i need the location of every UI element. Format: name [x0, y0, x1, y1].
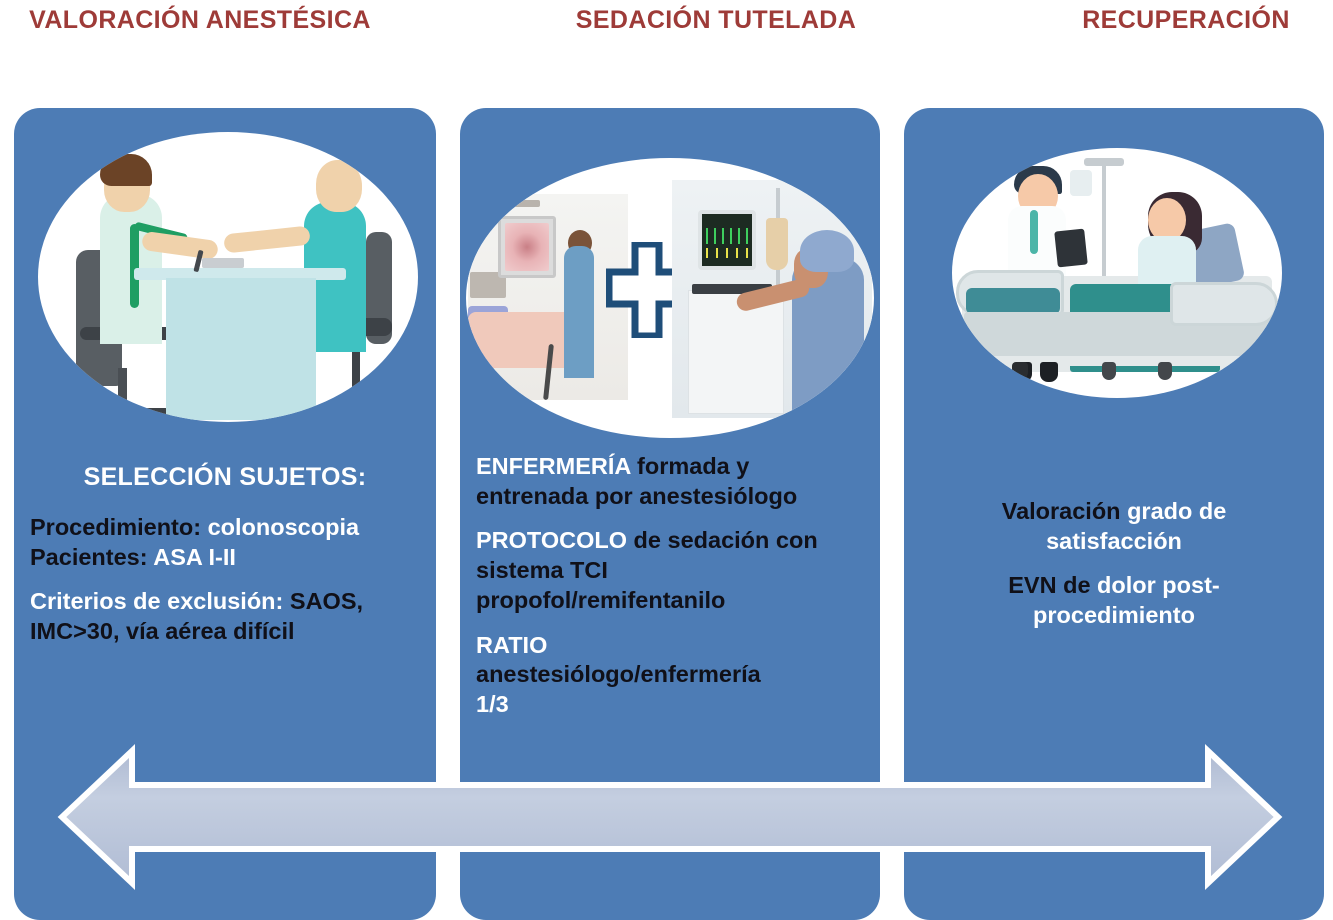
- bullet-protocolo: PROTOCOLO de sedación con: [476, 527, 864, 555]
- sedation-photos-illustration: [466, 158, 874, 438]
- bullet-enfermeria-cont: entrenada por anestesiólogo: [476, 483, 864, 511]
- bullet-procedimiento: Procedimiento: colonoscopia: [30, 514, 420, 542]
- subheading-seleccion-sujetos: SELECCIÓN SUJETOS:: [30, 463, 420, 492]
- iv-pole-icon: [1102, 158, 1106, 282]
- consultation-illustration: [38, 132, 418, 422]
- nurse-figure: [564, 246, 594, 378]
- bullet-ratio-cont: anestesiólogo/enfermería: [476, 661, 864, 689]
- panel-recuperacion: Valoración grado de satisfacción EVN de …: [904, 108, 1324, 920]
- column-title-valoracion-anestesica: VALORACIÓN ANESTÉSICA: [0, 6, 400, 35]
- bullet-valoracion-satisfaccion-cont: satisfacción: [920, 528, 1308, 556]
- bullet-criterios-exclusion: Criterios de exclusión: SAOS,: [30, 588, 420, 616]
- endoscopy-procedure-photo: [468, 194, 628, 400]
- bullet-protocolo-cont2: propofol/remifentanilo: [476, 587, 864, 615]
- bullet-pacientes: Pacientes: ASA I-II: [30, 544, 420, 572]
- panel-sedacion-tutelada: ENFERMERÍA formada y entrenada por anest…: [460, 108, 880, 920]
- clipboard-icon: [1054, 229, 1088, 268]
- bullet-protocolo-cont1: sistema TCI: [476, 557, 864, 585]
- paper-icon: [202, 258, 244, 268]
- bullet-ratio-value: 1/3: [476, 691, 864, 719]
- bullet-evn-dolor: EVN de dolor post-: [920, 572, 1308, 600]
- bullet-criterios-exclusion-cont: IMC>30, vía aérea difícil: [30, 618, 420, 646]
- vital-signs-monitor-icon: [698, 210, 756, 270]
- anesthesia-monitoring-photo: [672, 180, 872, 418]
- bullet-ratio: RATIO: [476, 632, 864, 660]
- text-block-seleccion-sujetos: SELECCIÓN SUJETOS: Procedimiento: colono…: [14, 463, 436, 648]
- bullet-valoracion-satisfaccion: Valoración grado de: [920, 498, 1308, 526]
- column-title-recuperacion: RECUPERACIÓN: [1026, 6, 1333, 35]
- surgical-cap-icon: [800, 230, 854, 272]
- text-block-recuperacion: Valoración grado de satisfacción EVN de …: [904, 498, 1324, 632]
- stethoscope-icon: [130, 224, 139, 308]
- endoscope-monitor-icon: [498, 216, 556, 278]
- diagram-canvas: VALORACIÓN ANESTÉSICA SEDACIÓN TUTELADA …: [0, 0, 1333, 920]
- bullet-evn-dolor-cont: procedimiento: [920, 602, 1308, 630]
- stethoscope-icon: [1030, 210, 1038, 254]
- recovery-illustration: [952, 148, 1282, 398]
- column-title-sedacion-tutelada: SEDACIÓN TUTELADA: [528, 6, 904, 35]
- text-block-sedacion: ENFERMERÍA formada y entrenada por anest…: [460, 453, 880, 721]
- panel-valoracion-anestesica: SELECCIÓN SUJETOS: Procedimiento: colono…: [14, 108, 436, 920]
- bullet-enfermeria: ENFERMERÍA formada y: [476, 453, 864, 481]
